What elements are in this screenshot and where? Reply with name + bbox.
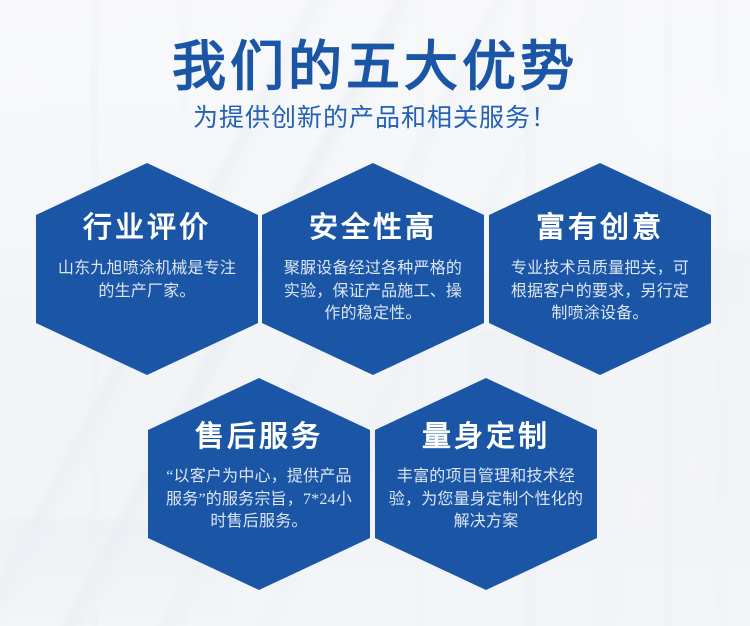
advantage-title: 售后服务 bbox=[195, 423, 323, 452]
advantage-title: 行业评价 bbox=[83, 214, 211, 243]
advantages-poster: 我们的五大优势 为提供创新的产品和相关服务！ 行业评价 山东九旭喷涂机械是专注的… bbox=[0, 0, 750, 626]
advantage-card-industry-rating: 行业评价 山东九旭喷涂机械是专注的生产厂家。 bbox=[36, 163, 258, 375]
advantage-title: 富有创意 bbox=[536, 214, 664, 243]
advantage-title: 安全性高 bbox=[309, 214, 437, 243]
poster-heading-group: 我们的五大优势 为提供创新的产品和相关服务！ bbox=[0, 40, 750, 132]
advantage-body: 丰富的项目管理和技术经验，为您量身定制个性化的解决方案 bbox=[386, 466, 586, 534]
advantage-body: 山东九旭喷涂机械是专注的生产厂家。 bbox=[51, 258, 243, 303]
page-title: 我们的五大优势 bbox=[0, 40, 750, 95]
advantage-body: 专业技术员质量把关，可根据客户的要求，另行定制喷涂设备。 bbox=[504, 258, 696, 326]
advantage-card-tailor-made: 量身定制 丰富的项目管理和技术经验，为您量身定制个性化的解决方案 bbox=[375, 378, 597, 590]
advantage-body: 聚脲设备经过各种严格的实验，保证产品施工、操作的稳定性。 bbox=[277, 258, 469, 326]
advantage-title: 量身定制 bbox=[422, 423, 550, 452]
advantage-card-creative: 富有创意 专业技术员质量把关，可根据客户的要求，另行定制喷涂设备。 bbox=[489, 163, 711, 375]
advantage-card-high-safety: 安全性高 聚脲设备经过各种严格的实验，保证产品施工、操作的稳定性。 bbox=[262, 163, 484, 375]
advantage-card-after-sales-service: 售后服务 “以客户为中心，提供产品服务”的服务宗旨，7*24小时售后服务。 bbox=[148, 378, 370, 590]
page-subtitle: 为提供创新的产品和相关服务！ bbox=[0, 106, 750, 132]
advantage-body: “以客户为中心，提供产品服务”的服务宗旨，7*24小时售后服务。 bbox=[159, 466, 359, 534]
